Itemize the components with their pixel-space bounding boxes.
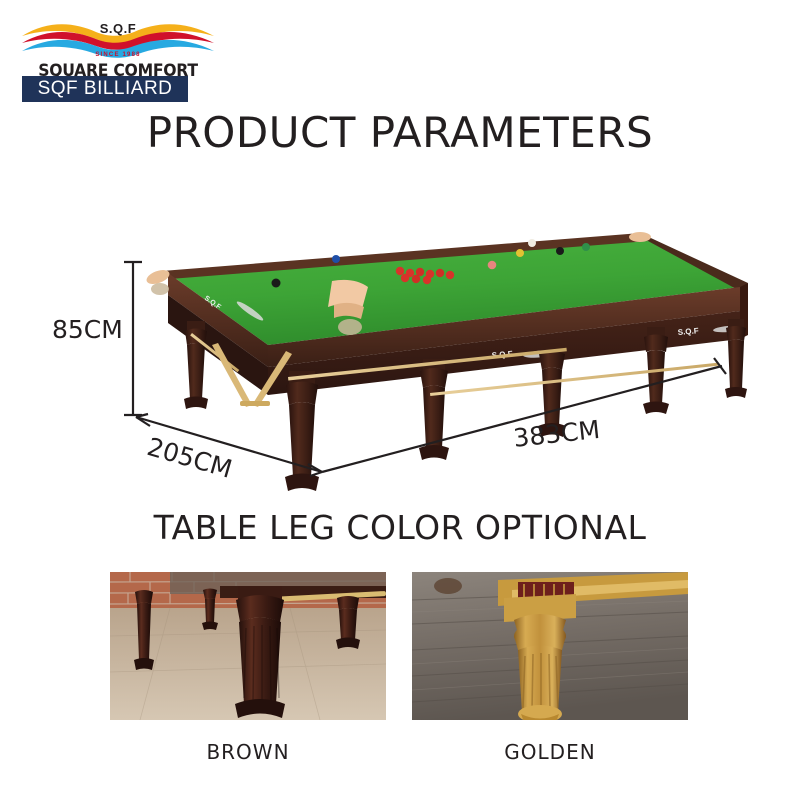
section-title: TABLE LEG COLOR OPTIONAL bbox=[0, 508, 800, 547]
leg-option-golden[interactable] bbox=[412, 572, 688, 720]
leg-option-brown[interactable] bbox=[110, 572, 386, 720]
rail-brand-mark: S.Q.F bbox=[677, 326, 699, 337]
brand-banner: SQF BILLIARD bbox=[22, 76, 188, 102]
logo-since-text: SINCE 1988 bbox=[18, 52, 218, 58]
dimension-label-height: 85CM bbox=[52, 315, 123, 344]
leg-option-golden-caption: GOLDEN bbox=[412, 740, 688, 764]
leg-option-golden-photo bbox=[412, 572, 688, 720]
page-title: PRODUCT PARAMETERS bbox=[0, 108, 800, 157]
logo-monogram: S.Q.F bbox=[18, 21, 218, 36]
leg-option-brown-caption: BROWN bbox=[110, 740, 386, 764]
leg-option-brown-photo bbox=[110, 572, 386, 720]
brand-banner-text: SQF BILLIARD bbox=[38, 78, 173, 100]
